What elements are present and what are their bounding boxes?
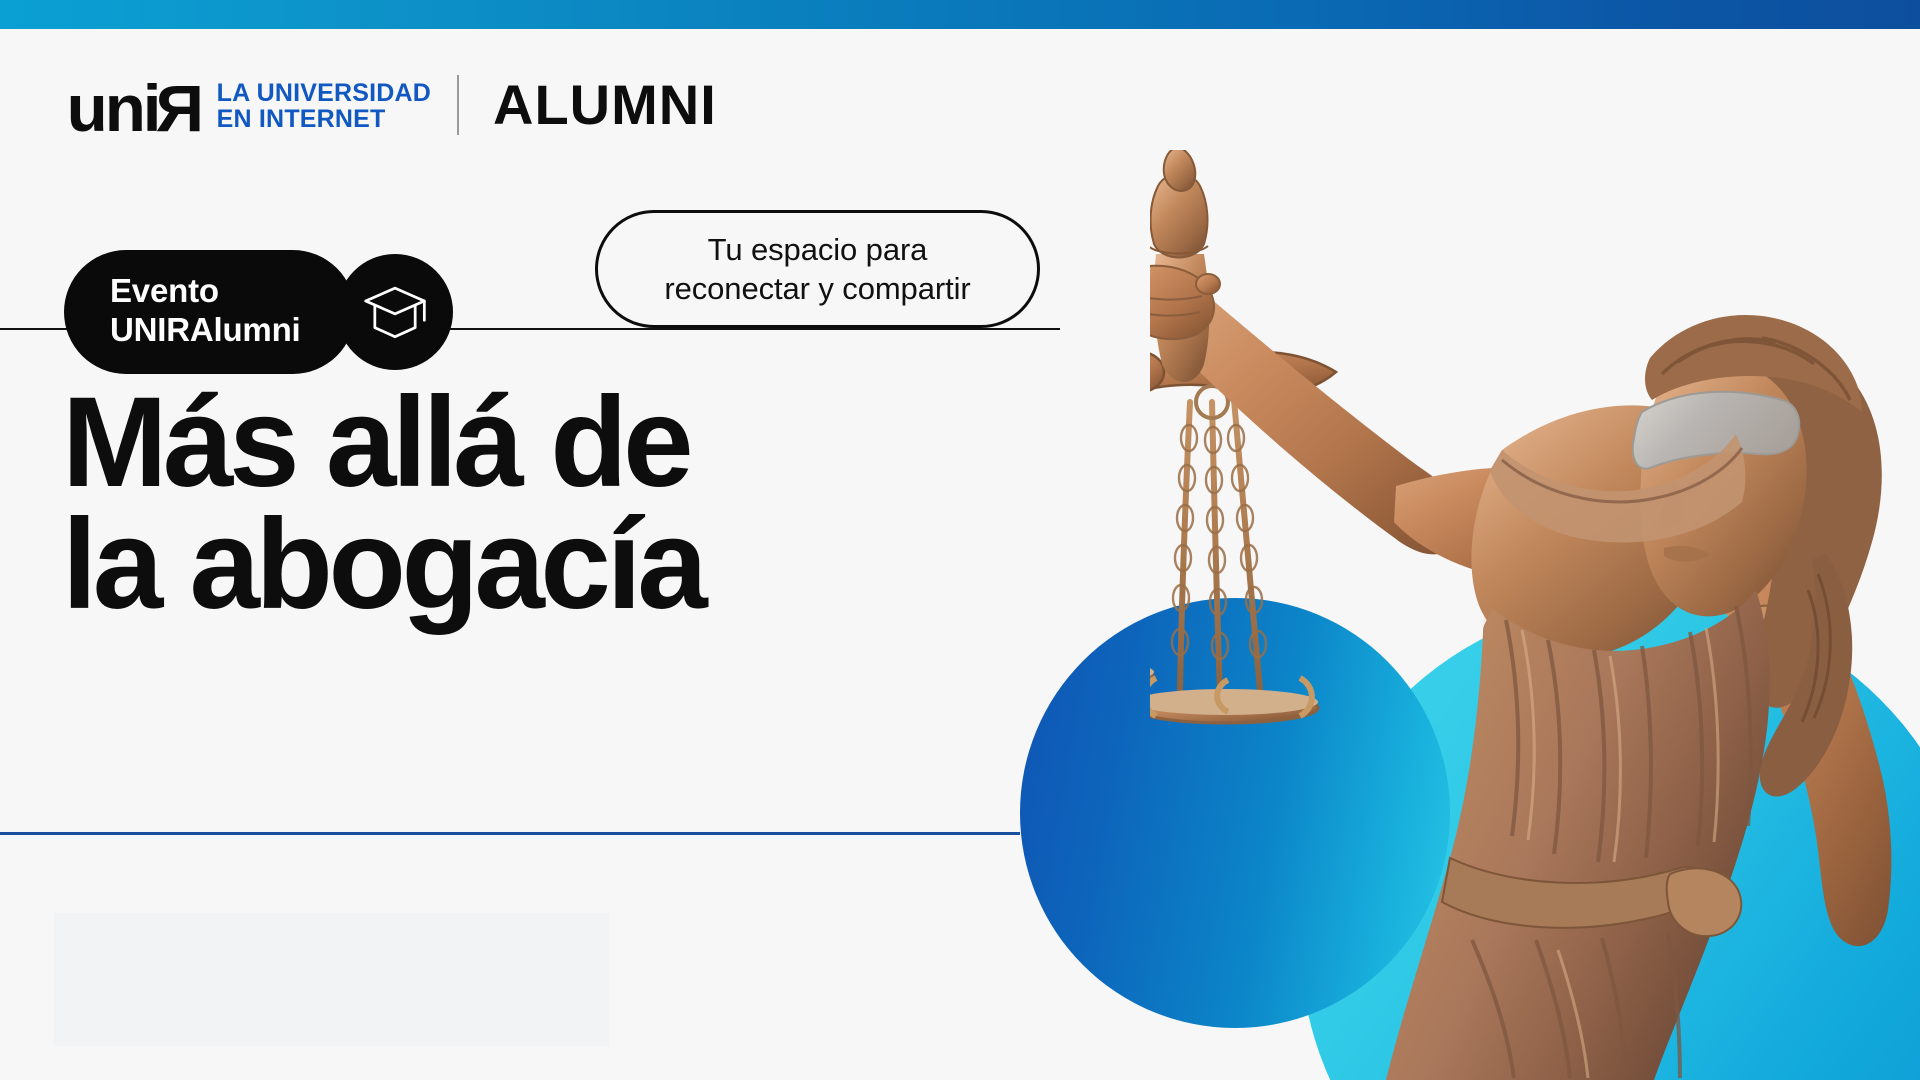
unir-logo-wordmark: uniR <box>67 75 204 141</box>
graduation-cap-icon <box>362 283 428 341</box>
unir-tagline: LA UNIVERSIDAD EN INTERNET <box>217 80 431 132</box>
unir-tagline-line-2: EN INTERNET <box>217 106 431 132</box>
unir-wordmark-r: R <box>158 75 204 141</box>
event-badge-line-1: Evento <box>110 272 301 311</box>
tagline-speech-bubble: Tu espacio para reconectar y compartir <box>595 210 1040 328</box>
unir-tagline-line-1: LA UNIVERSIDAD <box>217 80 431 106</box>
event-badge-pill: Evento UNIRAlumni <box>64 250 355 374</box>
speech-bubble-text: Tu espacio para reconectar y compartir <box>664 230 970 308</box>
alumni-wordmark: ALUMNI <box>493 77 717 133</box>
event-badge-line-2: UNIRAlumni <box>110 311 301 350</box>
logo-divider <box>457 75 459 135</box>
page-title: Más allá de la abogacía <box>62 382 703 625</box>
header-logo-lockup: uniR LA UNIVERSIDAD EN INTERNET ALUMNI <box>68 74 717 136</box>
top-gradient-bar <box>0 0 1920 29</box>
blue-divider-rule <box>0 832 1020 835</box>
content-placeholder-block <box>54 913 609 1046</box>
event-badge-group: Evento UNIRAlumni <box>64 250 453 374</box>
decorative-circle-blue <box>1020 598 1450 1028</box>
speech-bubble-line-2: reconectar y compartir <box>664 269 970 308</box>
unir-wordmark-stem: uni <box>67 71 159 145</box>
speech-bubble-line-1: Tu espacio para <box>664 230 970 269</box>
